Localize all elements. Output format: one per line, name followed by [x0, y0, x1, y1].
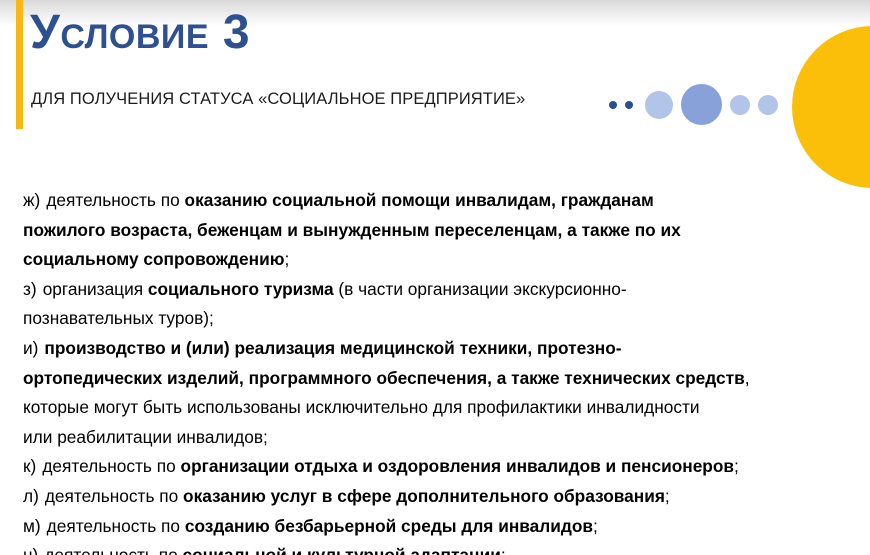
body-text-regular: деятельность по [47, 516, 185, 536]
list-marker: н) [23, 545, 38, 555]
body-text-regular: ; [593, 516, 598, 536]
body-line: познавательных туров); [23, 304, 853, 334]
list-marker: з) [23, 279, 37, 299]
body-text-regular: ; [284, 249, 289, 269]
body-text-regular: ; [501, 545, 506, 555]
list-marker: и) [23, 338, 38, 358]
light-blue-dot-icon-2 [730, 95, 750, 115]
body-line: з)организация социального туризма (в час… [23, 275, 853, 305]
body-text-bold: оказанию услуг в сфере дополнительного о… [183, 486, 665, 506]
yellow-circle-decoration [792, 26, 870, 188]
body-text-regular: познавательных туров); [23, 308, 214, 328]
body-text-regular: деятельность по [44, 545, 182, 555]
body-text-regular: организация [43, 279, 148, 299]
body-text-bold: социального туризма [148, 279, 334, 299]
body-text-regular: деятельность по [42, 456, 180, 476]
list-marker: л) [23, 486, 39, 506]
body-line: пожилого возраста, беженцам и вынужденны… [23, 216, 853, 246]
list-marker: к) [23, 456, 36, 476]
body-line: л)деятельность по оказанию услуг в сфере… [23, 482, 853, 512]
body-text-regular: которые могут быть использованы исключит… [23, 397, 700, 417]
body-text-bold: социальной и культурной адаптации [183, 545, 501, 555]
body-text-bold: ортопедических изделий, программного обе… [23, 368, 745, 388]
slide-canvas: Условие 3 ДЛЯ ПОЛУЧЕНИЯ СТАТУСА «СОЦИАЛЬ… [0, 0, 870, 555]
body-text-regular: (в части организации экскурсионно- [334, 279, 627, 299]
body-line: к)деятельность по организации отдыха и о… [23, 452, 853, 482]
slide-title: Условие 3 [30, 8, 250, 58]
list-marker: м) [23, 516, 41, 536]
light-blue-dot-icon-3 [758, 95, 778, 115]
body-text-bold: производство и (или) реализация медицинс… [44, 338, 621, 358]
body-text-regular: , [745, 368, 750, 388]
body-text-bold: созданию безбарьерной среды для инвалидо… [185, 516, 593, 536]
navy-dot-icon-2 [625, 101, 633, 109]
yellow-accent-bar [16, 0, 23, 129]
body-line: ж)деятельность по оказанию социальной по… [23, 186, 853, 216]
body-text-bold: организации отдыха и оздоровления инвали… [181, 456, 735, 476]
body-line: и)производство и (или) реализация медици… [23, 334, 853, 364]
body-text-regular: деятельность по [45, 486, 183, 506]
medium-blue-dot-icon [681, 84, 722, 125]
body-text-bold: пожилого возраста, беженцам и вынужденны… [23, 220, 681, 240]
light-blue-dot-icon-1 [645, 91, 673, 119]
body-text-bold: оказанию социальной помощи инвалидам, гр… [185, 190, 654, 210]
body-line: м)деятельность по созданию безбарьерной … [23, 512, 853, 542]
body-line: которые могут быть использованы исключит… [23, 393, 853, 423]
slide-subtitle: ДЛЯ ПОЛУЧЕНИЯ СТАТУСА «СОЦИАЛЬНОЕ ПРЕДПР… [31, 90, 525, 109]
body-text-regular: ; [665, 486, 670, 506]
body-line: или реабилитации инвалидов; [23, 423, 853, 453]
body-text-regular: ; [734, 456, 739, 476]
body-line: ортопедических изделий, программного обе… [23, 364, 853, 394]
list-marker: ж) [23, 190, 40, 210]
body-line: н)деятельность по социальной и культурно… [23, 541, 853, 555]
navy-dot-icon-1 [609, 101, 617, 109]
body-text-regular: или реабилитации инвалидов; [23, 427, 268, 447]
body-text-block: ж)деятельность по оказанию социальной по… [23, 186, 853, 555]
body-line: социальному сопровождению; [23, 245, 853, 275]
body-text-bold: социальному сопровождению [23, 249, 284, 269]
body-text-regular: деятельность по [46, 190, 184, 210]
